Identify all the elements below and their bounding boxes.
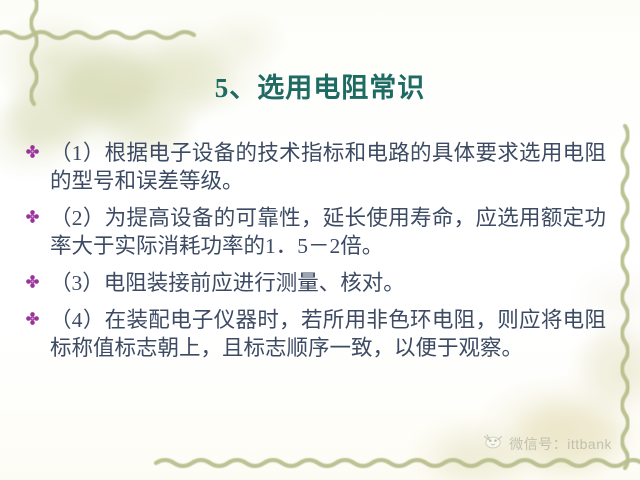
slide-title: 5、选用电阻常识 [0,66,640,105]
bullet-item-3: （3）电阻装接前应进行测量、核对。 [26,270,606,298]
diamond-bullet-icon [26,270,50,288]
bullet-item-text: （4）在装配电子仪器时，若所用非色环电阻，则应将电阻标称值标志朝上，且标志顺序一… [50,307,606,363]
diamond-bullet-icon [26,140,50,158]
bullet-item-text: （1）根据电子设备的技术指标和电路的具体要求选用电阻的型号和误差等级。 [50,140,606,196]
slide-canvas: 5、选用电阻常识 （1）根据电子设备的技术指标和电路的具体要求选用电阻的型号和误… [0,0,640,480]
bullet-item-2: （2）为提高设备的可靠性，延长使用寿命，应选用额定功率大于实际消耗功率的1．5－… [26,205,606,261]
bird-logo-icon [482,433,504,454]
wavy-line-top-left-horizontal [0,32,194,38]
bullet-item-1: （1）根据电子设备的技术指标和电路的具体要求选用电阻的型号和误差等级。 [26,140,606,196]
diamond-bullet-icon [26,307,50,325]
diamond-bullet-icon [26,205,50,223]
bullet-list: （1）根据电子设备的技术指标和电路的具体要求选用电阻的型号和误差等级。 （2）为… [26,140,606,372]
bullet-item-text: （3）电阻装接前应进行测量、核对。 [50,270,606,298]
bullet-item-4: （4）在装配电子仪器时，若所用非色环电阻，则应将电阻标称值标志朝上，且标志顺序一… [26,307,606,363]
watermark: 微信号：ittbank [482,433,612,454]
bullet-item-text: （2）为提高设备的可靠性，延长使用寿命，应选用额定功率大于实际消耗功率的1．5－… [50,205,606,261]
wavy-line-bottom-horizontal [156,460,640,466]
wavy-line-right-vertical [622,126,628,468]
watermark-text: 微信号：ittbank [509,434,612,454]
